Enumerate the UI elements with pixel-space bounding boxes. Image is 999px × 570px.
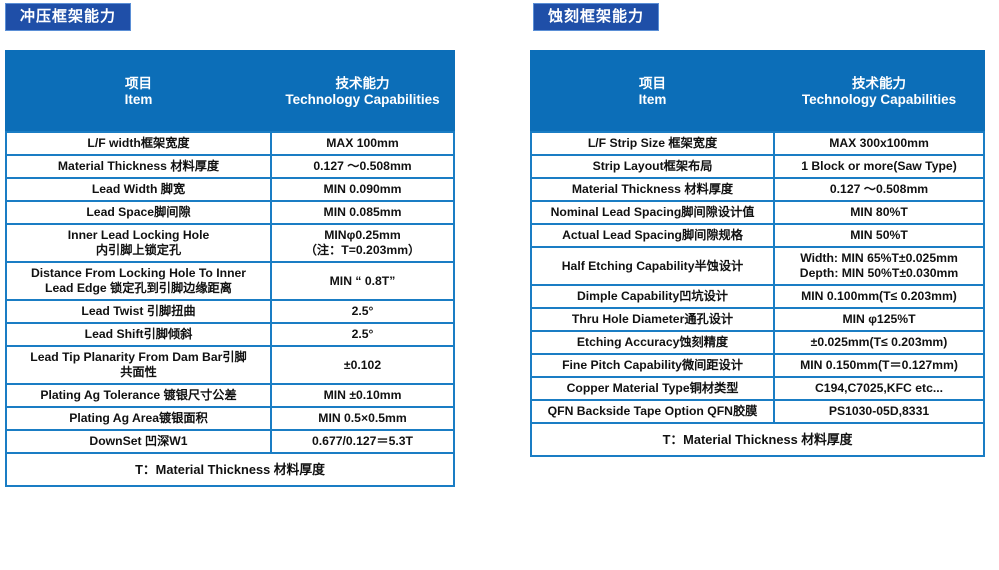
table-row: Material Thickness 材料厚度0.127 ～0.508mm bbox=[6, 155, 454, 178]
row-item-cell: Lead Tip Planarity From Dam Bar引脚共面性 bbox=[6, 346, 271, 384]
row-value-cell: MIN φ125%T bbox=[774, 308, 984, 331]
row-item-line: Lead Twist 引脚扭曲 bbox=[11, 304, 266, 319]
row-value-line: Depth: MIN 50%T±0.030mm bbox=[779, 266, 979, 281]
row-value-line: MIN 0.100mm(T≤ 0.203mm) bbox=[779, 289, 979, 304]
row-value-line: Width: MIN 65%T±0.025mm bbox=[779, 251, 979, 266]
footnote-text: T：Material Thickness 材料厚度 bbox=[531, 423, 984, 456]
row-item-cell: Strip Layout框架布局 bbox=[531, 155, 774, 178]
table-header: 项目 Item 技术能力 Technology Capabilities bbox=[6, 51, 454, 132]
row-value-cell: ±0.025mm(T≤ 0.203mm) bbox=[774, 331, 984, 354]
row-value-line: ±0.025mm(T≤ 0.203mm) bbox=[779, 335, 979, 350]
row-value-line: 1 Block or more(Saw Type) bbox=[779, 159, 979, 174]
table-row: Actual Lead Spacing脚间隙规格MIN 50%T bbox=[531, 224, 984, 247]
row-value-line: 2.5° bbox=[276, 327, 449, 342]
row-value-cell: MIN 50%T bbox=[774, 224, 984, 247]
row-item-cell: Material Thickness 材料厚度 bbox=[531, 178, 774, 201]
stamping-panel-title-badge: 冲压框架能力 bbox=[5, 3, 131, 31]
row-value-cell: 0.677/0.127＝5.3T bbox=[271, 430, 454, 453]
row-item-line: Etching Accuracy蚀刻精度 bbox=[536, 335, 769, 350]
footnote-row: T：Material Thickness 材料厚度 bbox=[6, 453, 454, 486]
column-header-item: 项目 Item bbox=[6, 51, 271, 132]
row-value-cell: MIN “ 0.8T” bbox=[271, 262, 454, 300]
table-row: Plating Ag Tolerance 镀银尺寸公差MIN ±0.10mm bbox=[6, 384, 454, 407]
row-value-cell: C194,C7025,KFC etc... bbox=[774, 377, 984, 400]
row-item-line: 内引脚上锁定孔 bbox=[11, 243, 266, 258]
row-item-cell: Lead Twist 引脚扭曲 bbox=[6, 300, 271, 323]
row-value-cell: MIN ±0.10mm bbox=[271, 384, 454, 407]
row-item-cell: Actual Lead Spacing脚间隙规格 bbox=[531, 224, 774, 247]
row-item-cell: Dimple Capability凹坑设计 bbox=[531, 285, 774, 308]
row-value-cell: 2.5° bbox=[271, 300, 454, 323]
row-item-line: Material Thickness 材料厚度 bbox=[11, 159, 266, 174]
table-row: Inner Lead Locking Hole内引脚上锁定孔MINφ0.25mm… bbox=[6, 224, 454, 262]
row-value-cell: MAX 300x100mm bbox=[774, 132, 984, 155]
row-value-line: MIN 0.090mm bbox=[276, 182, 449, 197]
row-item-cell: Copper Material Type铜材类型 bbox=[531, 377, 774, 400]
row-item-line: QFN Backside Tape Option QFN胶膜 bbox=[536, 404, 769, 419]
row-value-cell: MIN 80%T bbox=[774, 201, 984, 224]
table-header: 项目 Item 技术能力 Technology Capabilities bbox=[531, 51, 984, 132]
row-item-cell: DownSet 凹深W1 bbox=[6, 430, 271, 453]
row-item-cell: Material Thickness 材料厚度 bbox=[6, 155, 271, 178]
row-item-line: Lead Width 脚宽 bbox=[11, 182, 266, 197]
column-header-item-en: Item bbox=[532, 92, 773, 108]
stamping-capability-table: 项目 Item 技术能力 Technology Capabilities L/F… bbox=[5, 50, 455, 487]
row-value-line: PS1030-05D,8331 bbox=[779, 404, 979, 419]
footnote-row: T：Material Thickness 材料厚度 bbox=[531, 423, 984, 456]
row-item-line: Thru Hole Diameter通孔设计 bbox=[536, 312, 769, 327]
row-value-line: MIN “ 0.8T” bbox=[276, 274, 449, 289]
table-row: Lead Shift引脚倾斜2.5° bbox=[6, 323, 454, 346]
row-item-line: Half Etching Capability半蚀设计 bbox=[536, 259, 769, 274]
row-value-line: MIN 80%T bbox=[779, 205, 979, 220]
row-value-line: MIN φ125%T bbox=[779, 312, 979, 327]
row-value-line: MIN ±0.10mm bbox=[276, 388, 449, 403]
table-row: Etching Accuracy蚀刻精度±0.025mm(T≤ 0.203mm) bbox=[531, 331, 984, 354]
row-value-cell: 0.127 ～0.508mm bbox=[774, 178, 984, 201]
table-row: Material Thickness 材料厚度0.127 ～0.508mm bbox=[531, 178, 984, 201]
header-row: 项目 Item 技术能力 Technology Capabilities bbox=[531, 51, 984, 132]
footnote-text: T：Material Thickness 材料厚度 bbox=[6, 453, 454, 486]
row-item-cell: Distance From Locking Hole To InnerLead … bbox=[6, 262, 271, 300]
table-body: L/F Strip Size 框架宽度MAX 300x100mmStrip La… bbox=[531, 132, 984, 423]
row-item-line: Plating Ag Tolerance 镀银尺寸公差 bbox=[11, 388, 266, 403]
row-value-cell: PS1030-05D,8331 bbox=[774, 400, 984, 423]
row-value-line: 0.127 ～0.508mm bbox=[276, 159, 449, 174]
row-item-line: Material Thickness 材料厚度 bbox=[536, 182, 769, 197]
row-item-line: Distance From Locking Hole To Inner bbox=[11, 266, 266, 281]
row-value-cell: MIN 0.085mm bbox=[271, 201, 454, 224]
header-row: 项目 Item 技术能力 Technology Capabilities bbox=[6, 51, 454, 132]
table-footer: T：Material Thickness 材料厚度 bbox=[6, 453, 454, 486]
row-item-line: Plating Ag Area镀银面积 bbox=[11, 411, 266, 426]
row-item-line: Lead Space脚间隙 bbox=[11, 205, 266, 220]
column-header-item-cn: 项目 bbox=[7, 76, 270, 92]
column-header-capabilities-en: Technology Capabilities bbox=[272, 92, 453, 108]
row-value-line: 2.5° bbox=[276, 304, 449, 319]
row-value-line: MIN 0.5×0.5mm bbox=[276, 411, 449, 426]
row-value-line: 0.677/0.127＝5.3T bbox=[276, 434, 449, 449]
row-value-line: MIN 0.150mm(T＝0.127mm) bbox=[779, 358, 979, 373]
row-item-cell: Etching Accuracy蚀刻精度 bbox=[531, 331, 774, 354]
table-row: Half Etching Capability半蚀设计Width: MIN 65… bbox=[531, 247, 984, 285]
row-value-cell: MIN 0.090mm bbox=[271, 178, 454, 201]
row-item-cell: Fine Pitch Capability微间距设计 bbox=[531, 354, 774, 377]
row-value-cell: MIN 0.100mm(T≤ 0.203mm) bbox=[774, 285, 984, 308]
row-item-cell: Lead Width 脚宽 bbox=[6, 178, 271, 201]
column-header-capabilities-en: Technology Capabilities bbox=[775, 92, 983, 108]
column-header-capabilities-cn: 技术能力 bbox=[272, 76, 453, 92]
table-row: QFN Backside Tape Option QFN胶膜PS1030-05D… bbox=[531, 400, 984, 423]
row-value-line: MIN 50%T bbox=[779, 228, 979, 243]
table-footer: T：Material Thickness 材料厚度 bbox=[531, 423, 984, 456]
table-row: Nominal Lead Spacing脚间隙设计值MIN 80%T bbox=[531, 201, 984, 224]
table-row: Lead Twist 引脚扭曲2.5° bbox=[6, 300, 454, 323]
table-row: Strip Layout框架布局1 Block or more(Saw Type… bbox=[531, 155, 984, 178]
table-row: Plating Ag Area镀银面积MIN 0.5×0.5mm bbox=[6, 407, 454, 430]
row-value-line: MIN 0.085mm bbox=[276, 205, 449, 220]
row-value-cell: Width: MIN 65%T±0.025mmDepth: MIN 50%T±0… bbox=[774, 247, 984, 285]
row-item-cell: Half Etching Capability半蚀设计 bbox=[531, 247, 774, 285]
row-value-line: 0.127 ～0.508mm bbox=[779, 182, 979, 197]
row-item-line: Lead Edge 锁定孔到引脚边缘距离 bbox=[11, 281, 266, 296]
column-header-capabilities: 技术能力 Technology Capabilities bbox=[271, 51, 454, 132]
table-row: Lead Width 脚宽MIN 0.090mm bbox=[6, 178, 454, 201]
table-row: L/F Strip Size 框架宽度MAX 300x100mm bbox=[531, 132, 984, 155]
row-value-line: ±0.102 bbox=[276, 358, 449, 373]
row-item-line: 共面性 bbox=[11, 365, 266, 380]
row-value-cell: MINφ0.25mm（注：T=0.203mm） bbox=[271, 224, 454, 262]
table-body: L/F width框架宽度MAX 100mmMaterial Thickness… bbox=[6, 132, 454, 453]
column-header-item-cn: 项目 bbox=[532, 76, 773, 92]
row-item-line: Actual Lead Spacing脚间隙规格 bbox=[536, 228, 769, 243]
row-value-cell: ±0.102 bbox=[271, 346, 454, 384]
row-item-line: Strip Layout框架布局 bbox=[536, 159, 769, 174]
row-value-cell: MAX 100mm bbox=[271, 132, 454, 155]
row-value-line: （注：T=0.203mm） bbox=[276, 243, 449, 258]
row-item-cell: Nominal Lead Spacing脚间隙设计值 bbox=[531, 201, 774, 224]
row-item-cell: Lead Shift引脚倾斜 bbox=[6, 323, 271, 346]
table-row: Lead Space脚间隙MIN 0.085mm bbox=[6, 201, 454, 224]
row-value-cell: MIN 0.150mm(T＝0.127mm) bbox=[774, 354, 984, 377]
row-value-cell: 1 Block or more(Saw Type) bbox=[774, 155, 984, 178]
row-item-line: Lead Tip Planarity From Dam Bar引脚 bbox=[11, 350, 266, 365]
row-item-cell: Inner Lead Locking Hole内引脚上锁定孔 bbox=[6, 224, 271, 262]
row-item-cell: L/F Strip Size 框架宽度 bbox=[531, 132, 774, 155]
table-row: Lead Tip Planarity From Dam Bar引脚共面性±0.1… bbox=[6, 346, 454, 384]
row-item-cell: Plating Ag Area镀银面积 bbox=[6, 407, 271, 430]
row-item-line: Dimple Capability凹坑设计 bbox=[536, 289, 769, 304]
row-item-line: DownSet 凹深W1 bbox=[11, 434, 266, 449]
table-row: Copper Material Type铜材类型C194,C7025,KFC e… bbox=[531, 377, 984, 400]
row-item-cell: L/F width框架宽度 bbox=[6, 132, 271, 155]
row-item-cell: Thru Hole Diameter通孔设计 bbox=[531, 308, 774, 331]
column-header-item-en: Item bbox=[7, 92, 270, 108]
table-row: Thru Hole Diameter通孔设计MIN φ125%T bbox=[531, 308, 984, 331]
row-value-line: MINφ0.25mm bbox=[276, 228, 449, 243]
table-row: L/F width框架宽度MAX 100mm bbox=[6, 132, 454, 155]
row-value-line: MAX 300x100mm bbox=[779, 136, 979, 151]
table-row: DownSet 凹深W10.677/0.127＝5.3T bbox=[6, 430, 454, 453]
table-row: Fine Pitch Capability微间距设计MIN 0.150mm(T＝… bbox=[531, 354, 984, 377]
row-item-line: L/F width框架宽度 bbox=[11, 136, 266, 151]
row-item-line: Lead Shift引脚倾斜 bbox=[11, 327, 266, 342]
row-item-line: Copper Material Type铜材类型 bbox=[536, 381, 769, 396]
row-value-line: C194,C7025,KFC etc... bbox=[779, 381, 979, 396]
row-item-cell: Lead Space脚间隙 bbox=[6, 201, 271, 224]
row-item-cell: QFN Backside Tape Option QFN胶膜 bbox=[531, 400, 774, 423]
row-value-cell: 2.5° bbox=[271, 323, 454, 346]
row-item-line: Fine Pitch Capability微间距设计 bbox=[536, 358, 769, 373]
row-value-line: MAX 100mm bbox=[276, 136, 449, 151]
column-header-item: 项目 Item bbox=[531, 51, 774, 132]
table-row: Dimple Capability凹坑设计MIN 0.100mm(T≤ 0.20… bbox=[531, 285, 984, 308]
row-item-line: Inner Lead Locking Hole bbox=[11, 228, 266, 243]
etching-panel-title-badge: 蚀刻框架能力 bbox=[533, 3, 659, 31]
table-row: Distance From Locking Hole To InnerLead … bbox=[6, 262, 454, 300]
row-item-line: Nominal Lead Spacing脚间隙设计值 bbox=[536, 205, 769, 220]
row-item-line: L/F Strip Size 框架宽度 bbox=[536, 136, 769, 151]
row-value-cell: 0.127 ～0.508mm bbox=[271, 155, 454, 178]
column-header-capabilities-cn: 技术能力 bbox=[775, 76, 983, 92]
row-value-cell: MIN 0.5×0.5mm bbox=[271, 407, 454, 430]
column-header-capabilities: 技术能力 Technology Capabilities bbox=[774, 51, 984, 132]
etching-capability-table: 项目 Item 技术能力 Technology Capabilities L/F… bbox=[530, 50, 985, 457]
row-item-cell: Plating Ag Tolerance 镀银尺寸公差 bbox=[6, 384, 271, 407]
